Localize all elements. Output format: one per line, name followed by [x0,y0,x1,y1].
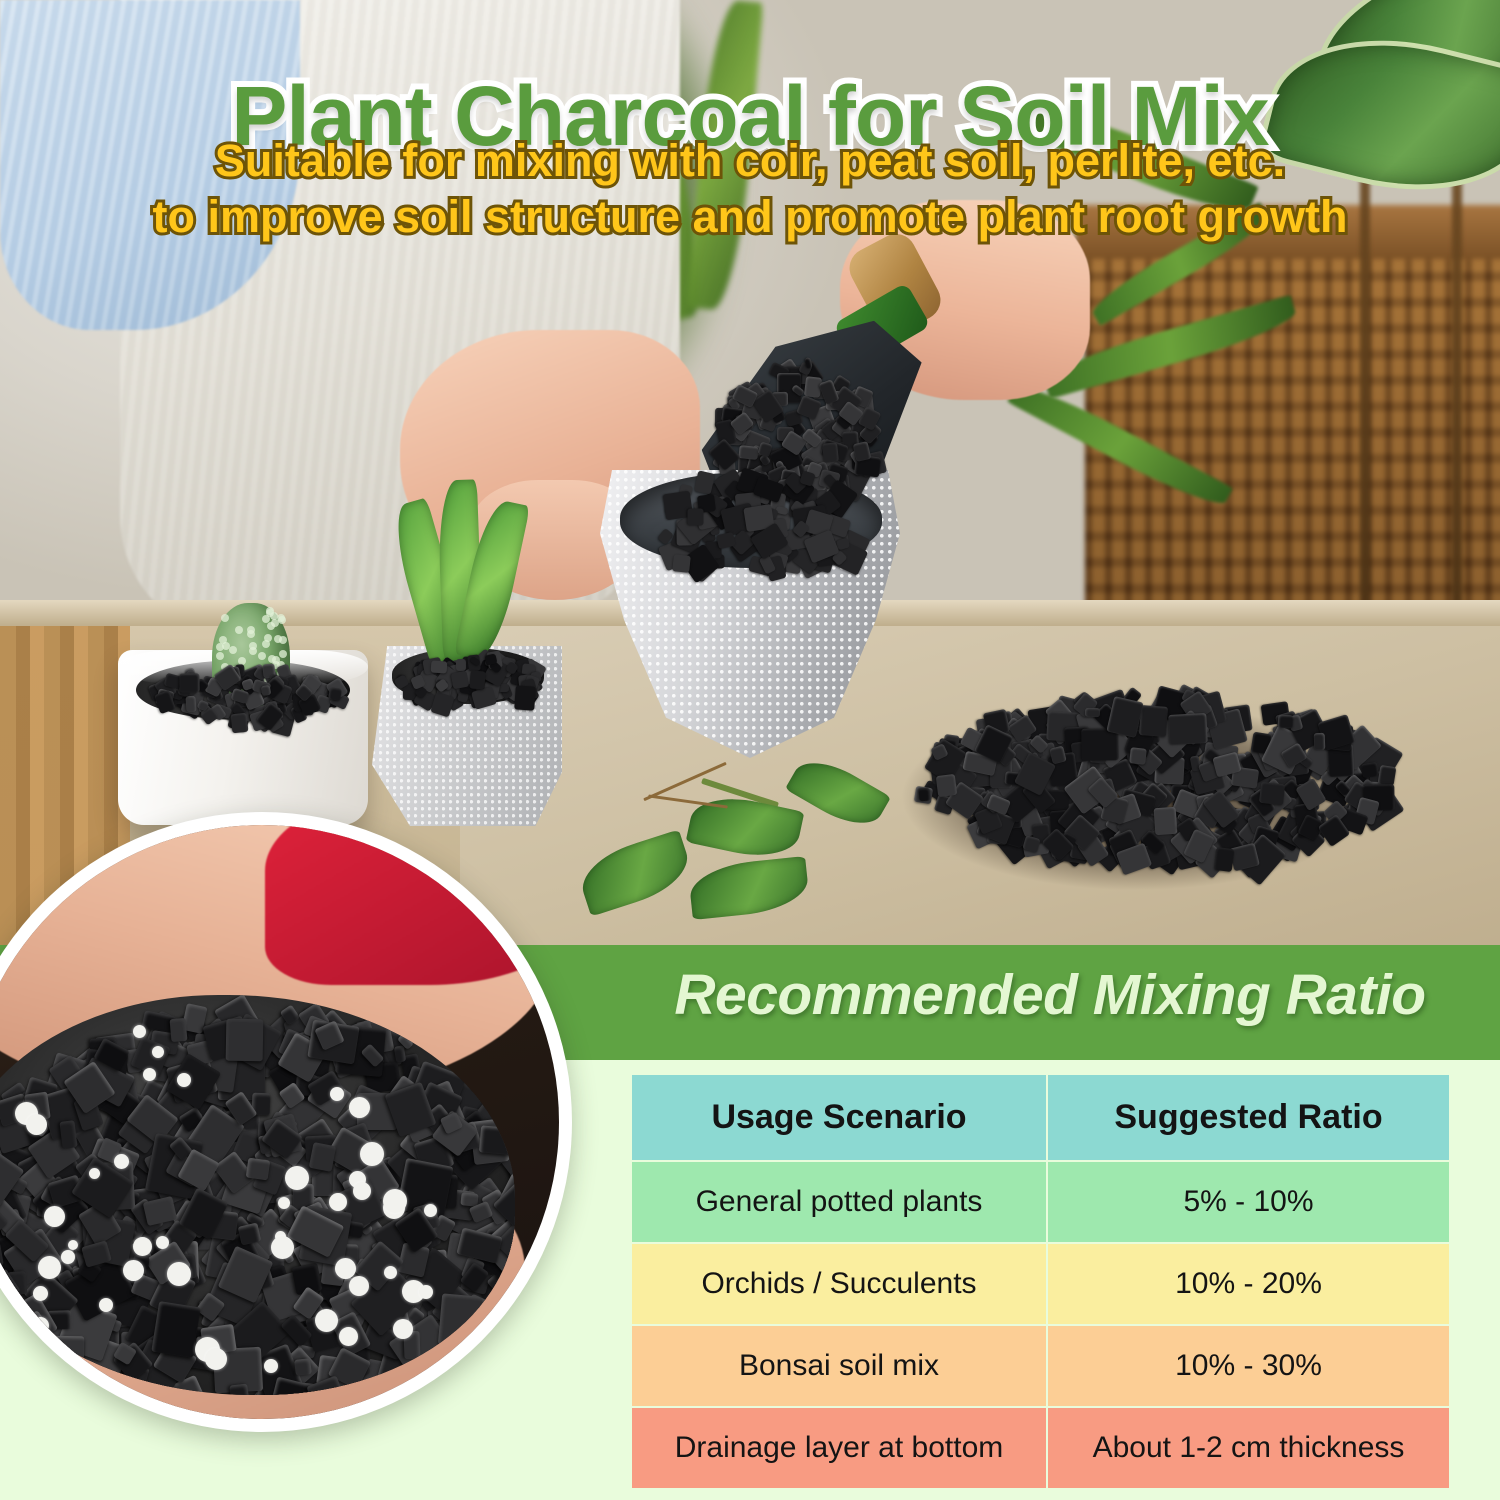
perlite-speck [353,1182,371,1200]
perlite-speck [383,1189,407,1213]
red-sleeve [265,825,559,985]
charcoal-granule [48,1336,85,1375]
perlite-speck [384,1266,397,1279]
perlite-speck [424,1204,437,1217]
page-subtitle: Suitable for mixing with coir, peat soil… [0,133,1500,245]
charcoal-granule [309,1142,337,1172]
charcoal-granule [226,1019,264,1062]
perlite-speck [330,1087,344,1101]
perlite-speck [393,1319,413,1339]
charcoal-granule [328,687,342,701]
perlite-speck [44,1206,65,1227]
perlite-speck [315,1309,338,1332]
charcoal-granule [672,554,691,573]
column-header-scenario: Usage Scenario [631,1074,1047,1161]
cactus-areole [279,636,287,644]
perlite-speck [114,1154,129,1169]
table-row: General potted plants 5% - 10% [631,1161,1450,1243]
mixing-ratio-table: Usage Scenario Suggested Ratio General p… [630,1073,1451,1490]
perlite-speck [285,1166,309,1190]
charcoal-granule [438,1293,481,1347]
charcoal-granule [1154,807,1178,835]
cactus-areole [266,609,274,617]
perlite-speck [339,1327,358,1346]
circle-photo-hands-with-charcoal [0,825,559,1419]
cell-ratio: 5% - 10% [1047,1161,1450,1243]
charcoal-granule [1314,733,1326,750]
subtitle-line-2: to improve soil structure and promote pl… [0,189,1500,245]
charcoal-granule [688,509,704,526]
charcoal-granule [1378,765,1397,786]
perlite-speck [68,1240,78,1250]
cactus-areole [249,642,257,650]
cactus-areole [221,614,229,622]
table-row: Orchids / Succulents 10% - 20% [631,1243,1450,1325]
perlite-speck [133,1025,146,1038]
charcoal-granule [451,671,470,690]
perlite-speck [152,1046,164,1058]
charcoal-granule [1129,747,1147,765]
perlite-speck [329,1193,347,1211]
charcoal-granule [294,1358,312,1376]
cactus-areole [229,646,237,654]
section-banner-title: Recommended Mixing Ratio [600,962,1500,1028]
charcoal-granule [59,1120,77,1149]
circle-photo-frame [0,812,572,1432]
perlite-speck [33,1286,48,1301]
charcoal-granule [1168,713,1208,745]
perlite-speck [349,1276,369,1296]
charcoal-granule [151,1301,200,1358]
charcoal-granule [1081,728,1119,761]
perlite-speck [38,1256,61,1279]
charcoal-granule [1278,715,1294,729]
charcoal-granule [1139,705,1168,737]
perlite-speck [278,1197,290,1209]
cell-scenario: Bonsai soil mix [631,1325,1047,1407]
perlite-speck [123,1260,144,1281]
perlite-speck [205,1348,227,1370]
perlite-speck [89,1168,100,1179]
cell-ratio: About 1-2 cm thickness [1047,1407,1450,1489]
cactus-areole [264,634,272,642]
charcoal-granule [1259,782,1285,805]
cell-ratio: 10% - 20% [1047,1243,1450,1325]
column-header-ratio: Suggested Ratio [1047,1074,1450,1161]
cactus-areole [268,655,276,663]
cactus-areole [216,652,224,660]
cell-scenario: Drainage layer at bottom [631,1407,1047,1489]
cactus-areole [267,622,275,630]
perlite-speck [335,1258,356,1279]
perlite-speck [156,1236,169,1249]
charcoal-granule [738,445,758,460]
charcoal-granule [1085,708,1100,718]
infographic-root: Plant Charcoal for Soil Mix Suitable for… [0,0,1500,1500]
perlite-speck [61,1250,75,1264]
perlite-speck [167,1262,191,1286]
perlite-speck [143,1068,156,1081]
charcoal-granule [231,713,249,734]
perlite-speck [264,1359,278,1373]
cactus-areole [247,630,255,638]
cell-scenario: Orchids / Succulents [631,1243,1047,1325]
perlite-speck [26,1114,47,1135]
charcoal-granule [919,788,931,802]
perlite-speck [271,1236,294,1259]
charcoal-granule [456,659,466,671]
perlite-speck [349,1097,370,1118]
charcoal-granule [179,673,199,692]
charcoal-granule [469,670,486,689]
perlite-speck [133,1237,152,1256]
charcoal-granule [185,696,196,713]
perlite-speck [177,1073,191,1087]
cactus-areole [278,616,286,624]
charcoal-granule [1361,762,1379,778]
charcoal-granule [229,1383,249,1395]
table-header-row: Usage Scenario Suggested Ratio [631,1074,1450,1161]
cactus-areole [235,626,243,634]
perlite-speck [360,1142,384,1166]
charcoal-granule [261,685,272,696]
charcoal-granule [170,1018,188,1042]
perlite-speck [99,1298,113,1312]
charcoal-granule [246,1158,271,1181]
subtitle-line-1: Suitable for mixing with coir, peat soil… [0,133,1500,189]
cell-scenario: General potted plants [631,1161,1047,1243]
perlite-speck [419,1285,433,1299]
table-row: Bonsai soil mix 10% - 30% [631,1325,1450,1407]
cell-ratio: 10% - 30% [1047,1325,1450,1407]
cactus-areole [279,650,287,658]
charcoal-granule [1214,847,1235,872]
perlite-speck [32,1317,49,1334]
charcoal-granule [936,774,957,797]
charcoal-granule [479,1125,515,1155]
charcoal-granule [514,685,536,710]
charcoal-granule [822,442,839,462]
table-row: Drainage layer at bottom About 1-2 cm th… [631,1407,1450,1489]
charcoal-granule [431,660,448,673]
cactus-areole [216,643,224,651]
cactus-areole [258,652,266,660]
